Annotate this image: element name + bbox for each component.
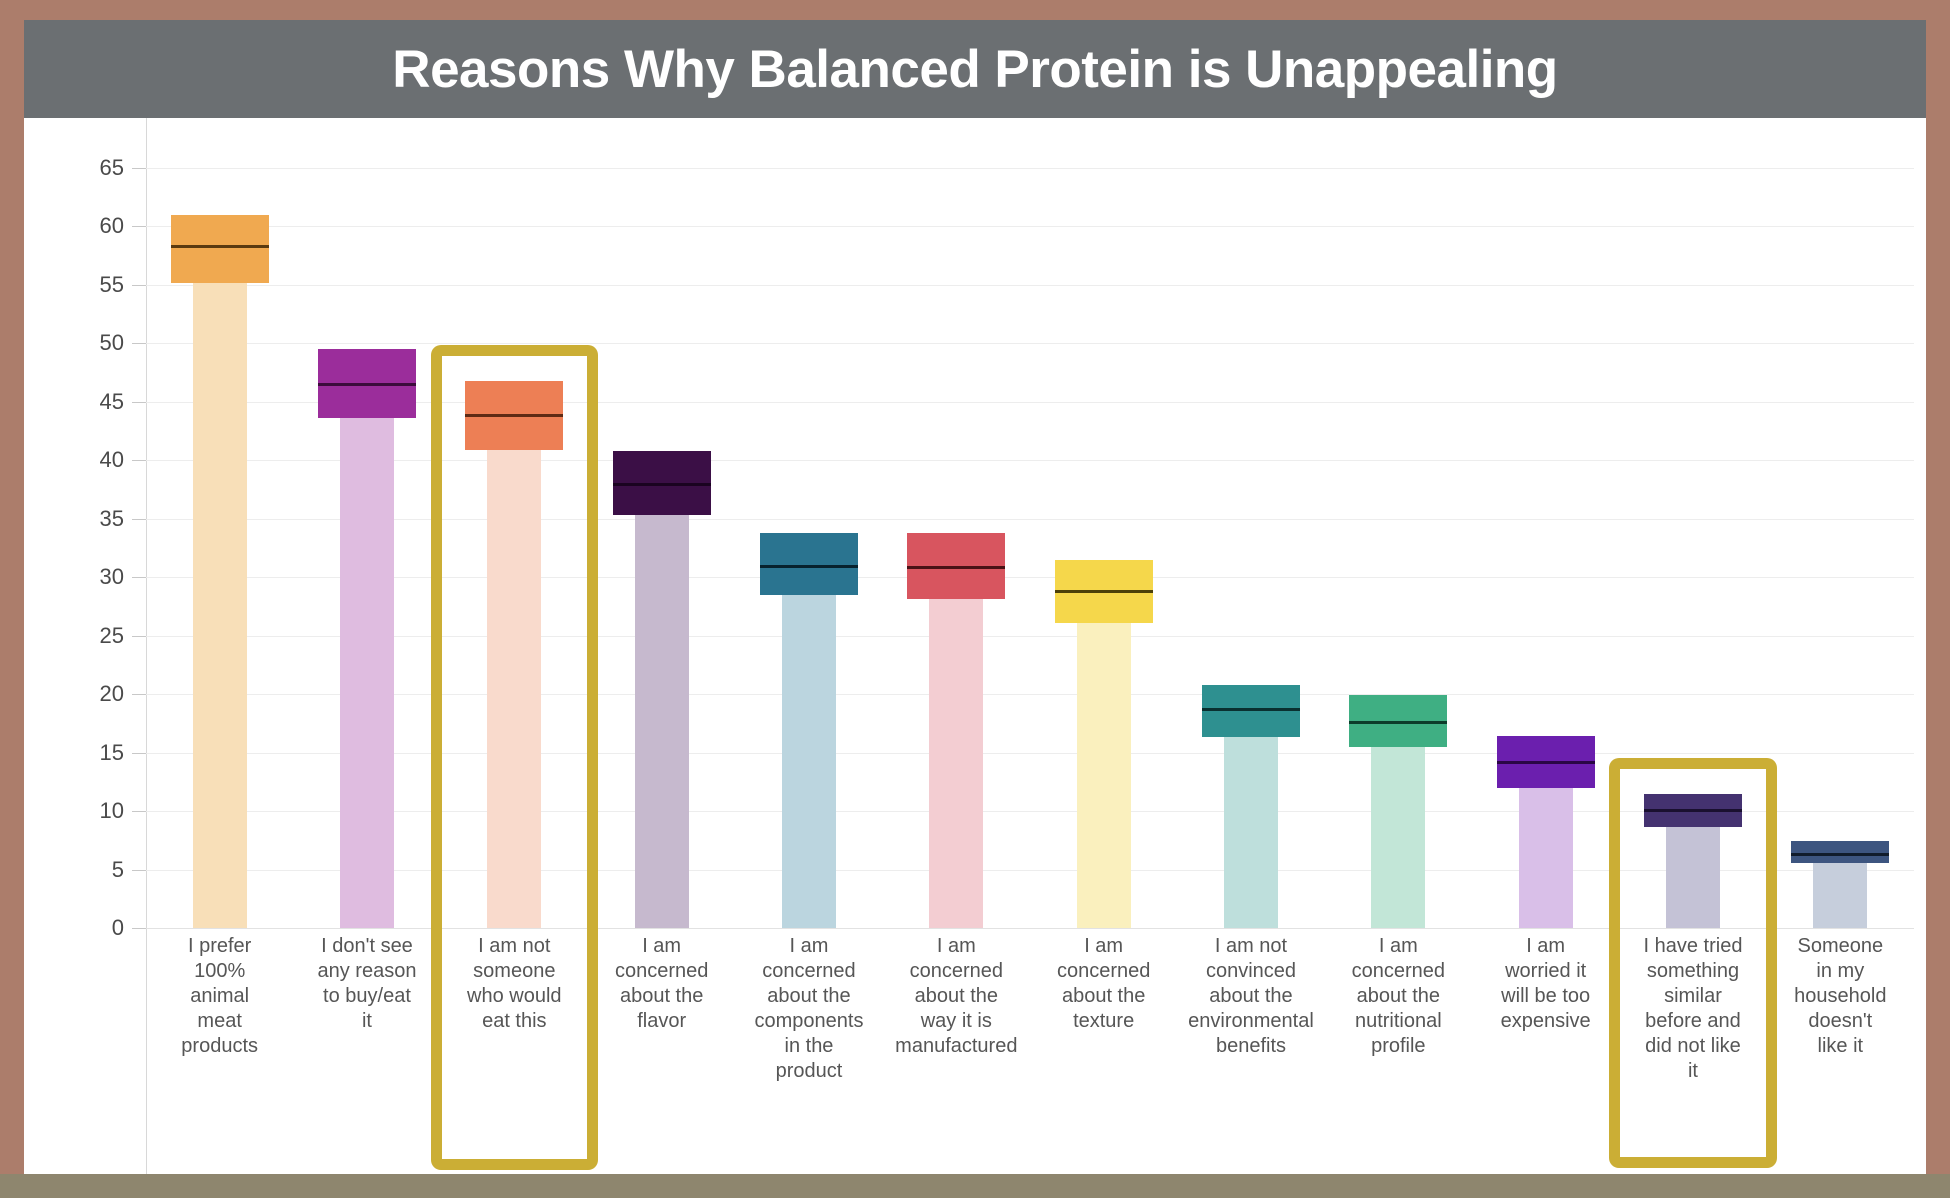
category-label-line: it <box>1607 1059 1778 1084</box>
category-label-line: before and <box>1607 1009 1778 1034</box>
bar-group[interactable]: I prefer100%animalmeatproducts <box>146 118 293 928</box>
category-label-line: someone <box>429 959 600 984</box>
category-label-line: concerned <box>576 959 747 984</box>
category-label-line: in the <box>723 1034 894 1059</box>
category-label-line: about the <box>1165 984 1336 1009</box>
category-label-line: concerned <box>1018 959 1189 984</box>
plot-area: 05101520253035404550556065 I prefer100%a… <box>24 118 1926 1174</box>
bar-stem <box>635 515 689 928</box>
category-label-line: way it is <box>871 1009 1042 1034</box>
category-label-line: about the <box>723 984 894 1009</box>
category-label-line: any reason <box>281 959 452 984</box>
category-label-line: 100% <box>134 959 305 984</box>
category-label-line: like it <box>1755 1034 1926 1059</box>
category-label-line: similar <box>1607 984 1778 1009</box>
category-label-line: profile <box>1313 1034 1484 1059</box>
x-axis-category-label: I am notsomeonewho wouldeat this <box>429 934 600 1034</box>
chart-card: Reasons Why Balanced Protein is Unappeal… <box>24 20 1926 1174</box>
x-axis-category-label: I amworried itwill be tooexpensive <box>1460 934 1631 1034</box>
category-label-line: components <box>723 1009 894 1034</box>
bar-stem <box>1224 737 1278 928</box>
median-line <box>1202 708 1300 711</box>
x-axis-category-label: I amconcernedabout theway it ismanufactu… <box>871 934 1042 1059</box>
category-label-line: products <box>134 1034 305 1059</box>
category-label-line: concerned <box>871 959 1042 984</box>
category-label-line: in my <box>1755 959 1926 984</box>
bar-group[interactable]: I am notsomeonewho wouldeat this <box>441 118 588 928</box>
category-label-line: I am <box>1018 934 1189 959</box>
bar-stem <box>1666 827 1720 928</box>
median-line <box>1791 853 1889 856</box>
bar-stem <box>1371 747 1425 928</box>
category-label-line: worried it <box>1460 959 1631 984</box>
category-label-line: I am <box>1313 934 1484 959</box>
bottom-accent-strip <box>0 1174 1950 1198</box>
bar-group[interactable]: I don't seeany reasonto buy/eatit <box>293 118 440 928</box>
category-label-line: animal <box>134 984 305 1009</box>
page-title: Reasons Why Balanced Protein is Unappeal… <box>392 39 1557 100</box>
median-line <box>1055 590 1153 593</box>
category-label-line: will be too <box>1460 984 1631 1009</box>
category-label-line: meat <box>134 1009 305 1034</box>
category-label-line: I prefer <box>134 934 305 959</box>
bar-stem <box>340 418 394 928</box>
bar-stem <box>487 450 541 928</box>
bars-layer: I prefer100%animalmeatproductsI don't se… <box>24 118 1926 1174</box>
category-label-line: about the <box>576 984 747 1009</box>
median-line <box>1349 721 1447 724</box>
median-line <box>907 566 1005 569</box>
category-label-line: flavor <box>576 1009 747 1034</box>
bar-stem <box>1519 788 1573 928</box>
median-line <box>613 483 711 486</box>
category-label-line: I am not <box>429 934 600 959</box>
category-label-line: household <box>1755 984 1926 1009</box>
category-label-line: convinced <box>1165 959 1336 984</box>
median-line <box>318 383 416 386</box>
screenshot-root: Reasons Why Balanced Protein is Unappeal… <box>0 0 1950 1198</box>
category-label-line: texture <box>1018 1009 1189 1034</box>
category-label-line: I have tried <box>1607 934 1778 959</box>
category-label-line: product <box>723 1059 894 1084</box>
category-label-line: I am <box>871 934 1042 959</box>
bar-group[interactable]: I am notconvincedabout theenvironmentalb… <box>1177 118 1324 928</box>
median-line <box>171 245 269 248</box>
category-label-line: about the <box>1313 984 1484 1009</box>
category-label-line: I am <box>576 934 747 959</box>
category-label-line: to buy/eat <box>281 984 452 1009</box>
category-label-line: something <box>1607 959 1778 984</box>
category-label-line: concerned <box>723 959 894 984</box>
bar-group[interactable]: I amconcernedabout theflavor <box>588 118 735 928</box>
bar-box <box>1791 841 1889 862</box>
category-label-line: about the <box>871 984 1042 1009</box>
bar-stem <box>782 595 836 928</box>
category-label-line: benefits <box>1165 1034 1336 1059</box>
median-line <box>1644 809 1742 812</box>
bar-group[interactable]: Someonein myhouseholddoesn'tlike it <box>1767 118 1914 928</box>
bar-stem <box>1813 863 1867 928</box>
category-label-line: I am <box>1460 934 1631 959</box>
category-label-line: did not like <box>1607 1034 1778 1059</box>
category-label-line: I am <box>723 934 894 959</box>
category-label-line: nutritional <box>1313 1009 1484 1034</box>
bar-group[interactable]: I amconcernedabout theway it ismanufactu… <box>883 118 1030 928</box>
category-label-line: concerned <box>1313 959 1484 984</box>
category-label-line: manufactured <box>871 1034 1042 1059</box>
bar-box <box>171 215 269 283</box>
x-axis-category-label: I prefer100%animalmeatproducts <box>134 934 305 1059</box>
bar-group[interactable]: I amworried itwill be tooexpensive <box>1472 118 1619 928</box>
x-axis-category-label: I am notconvincedabout theenvironmentalb… <box>1165 934 1336 1059</box>
category-label-line: expensive <box>1460 1009 1631 1034</box>
category-label-line: doesn't <box>1755 1009 1926 1034</box>
category-label-line: who would <box>429 984 600 1009</box>
median-line <box>465 414 563 417</box>
bar-stem <box>1077 623 1131 928</box>
bar-group[interactable]: I amconcernedabout thenutritionalprofile <box>1325 118 1472 928</box>
category-label-line: I don't see <box>281 934 452 959</box>
bar-stem <box>193 283 247 928</box>
bar-group[interactable]: I amconcernedabout thecomponentsin thepr… <box>735 118 882 928</box>
category-label-line: it <box>281 1009 452 1034</box>
x-axis-category-label: I amconcernedabout thetexture <box>1018 934 1189 1034</box>
category-label-line: Someone <box>1755 934 1926 959</box>
chart-title-band: Reasons Why Balanced Protein is Unappeal… <box>24 20 1926 118</box>
x-axis-category-label: I amconcernedabout thecomponentsin thepr… <box>723 934 894 1084</box>
category-label-line: about the <box>1018 984 1189 1009</box>
x-axis-category-label: I have triedsomethingsimilarbefore anddi… <box>1607 934 1778 1084</box>
bar-stem <box>929 599 983 928</box>
x-axis-category-label: I don't seeany reasonto buy/eatit <box>281 934 452 1034</box>
category-label-line: I am not <box>1165 934 1336 959</box>
x-axis-category-label: Someonein myhouseholddoesn'tlike it <box>1755 934 1926 1059</box>
bar-group[interactable]: I have triedsomethingsimilarbefore anddi… <box>1619 118 1766 928</box>
category-label-line: eat this <box>429 1009 600 1034</box>
category-label-line: environmental <box>1165 1009 1336 1034</box>
median-line <box>760 565 858 568</box>
x-axis-category-label: I amconcernedabout thenutritionalprofile <box>1313 934 1484 1059</box>
x-axis-category-label: I amconcernedabout theflavor <box>576 934 747 1034</box>
bar-group[interactable]: I amconcernedabout thetexture <box>1030 118 1177 928</box>
median-line <box>1497 761 1595 764</box>
